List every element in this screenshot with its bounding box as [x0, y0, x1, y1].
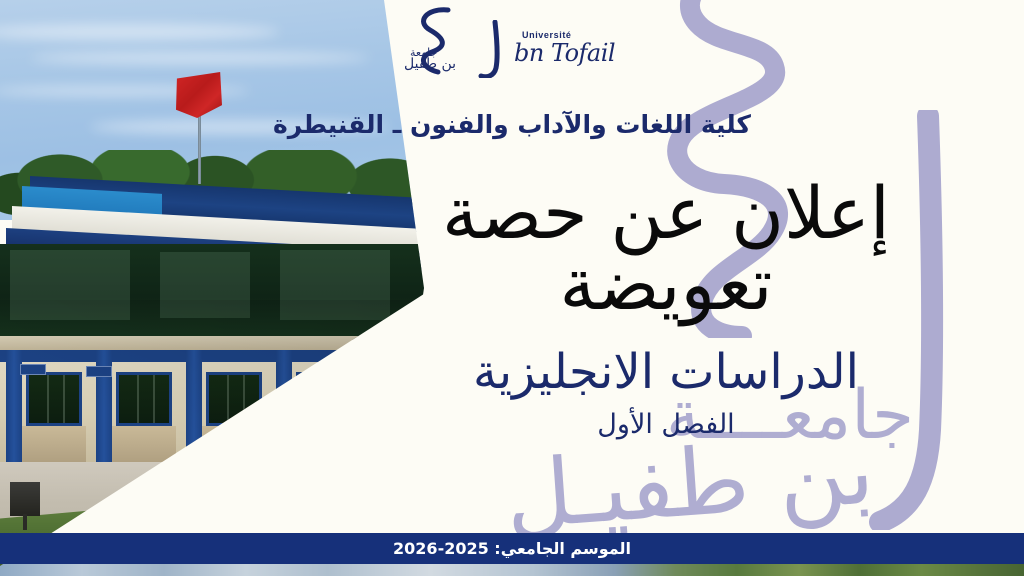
- main-content: إعلان عن حصة تعويضة الدراسات الانجليزية …: [336, 178, 996, 440]
- logo-name-latin: bn Tofail: [514, 39, 615, 67]
- footer-bar: الموسم الجامعي: 2025-2026: [0, 533, 1024, 564]
- logo-mark: Université bn Tofail جامعة بن طفيل: [382, 6, 642, 78]
- cloud: [30, 52, 370, 64]
- announcement-poster: جامعــــة بن طفيـل Université bn Tofail …: [0, 0, 1024, 576]
- bottom-photo-strip: [0, 564, 1024, 576]
- logo-arabic-name: بن طفيل: [404, 56, 456, 72]
- title-line-2: تعويضة: [336, 249, 996, 320]
- semester-label: الفصل الأول: [336, 409, 996, 440]
- announcement-title: إعلان عن حصة تعويضة: [336, 178, 996, 319]
- wall-plinth: [202, 426, 266, 462]
- logo-alef-icon: [478, 20, 508, 78]
- department-name: الدراسات الانجليزية: [336, 347, 996, 397]
- university-logo: Université bn Tofail جامعة بن طفيل: [382, 6, 642, 78]
- watermark-ibn-tofail-text: بن طفيـل: [502, 425, 877, 543]
- academic-year-text: الموسم الجامعي: 2025-2026: [393, 539, 631, 558]
- faculty-name: كلية اللغات والآداب والفنون ـ القنيطرة: [0, 110, 1024, 139]
